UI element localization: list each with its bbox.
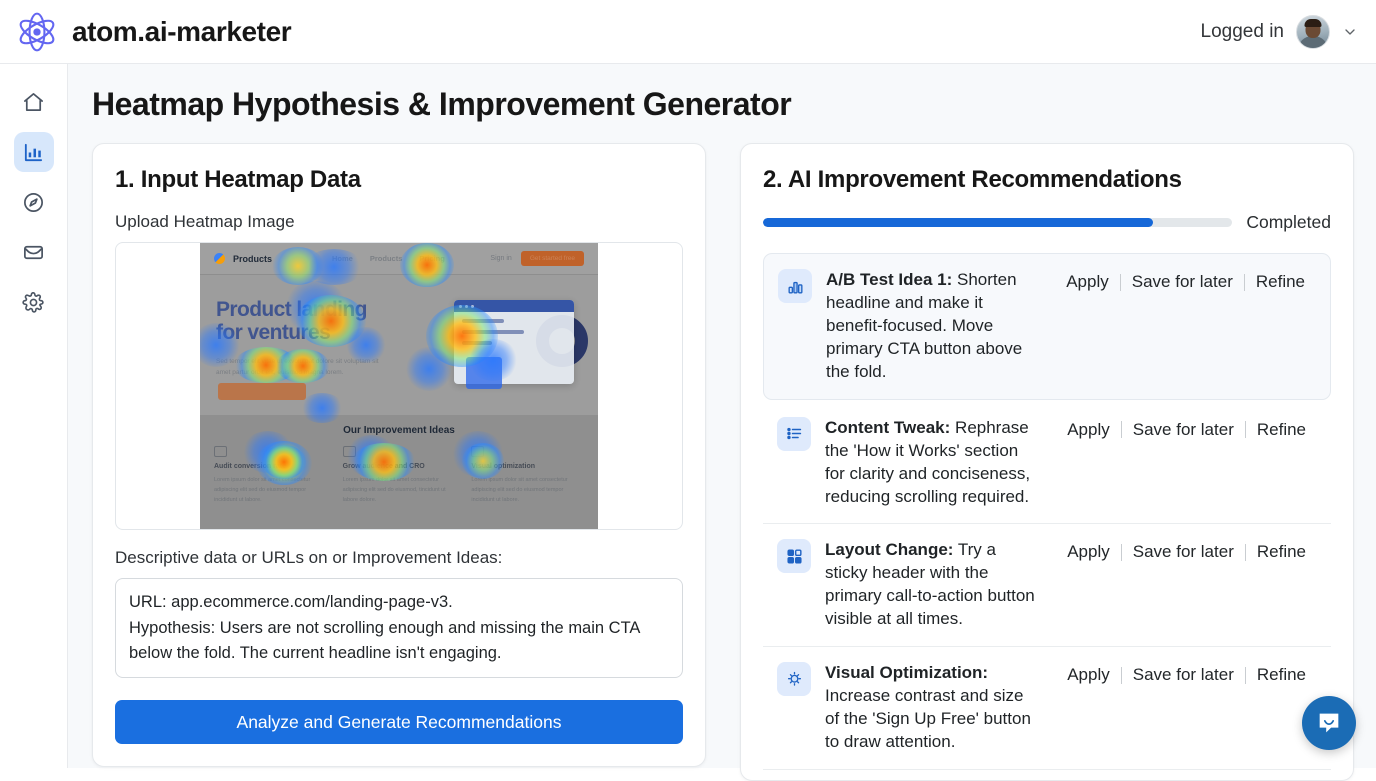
recommendation-title: Content Tweak: <box>825 418 950 437</box>
analyze-generate-button[interactable]: Analyze and Generate Recommendations <box>115 700 683 744</box>
heatmap-preview-image: Products Home Products Pricing Sign in G… <box>200 243 598 529</box>
apply-button[interactable]: Apply <box>1056 665 1121 685</box>
bar-chart-icon <box>22 141 45 164</box>
mock-card-body: Lorem ipsum dolor sit amet consectetur a… <box>343 475 456 506</box>
recommendation-actions: Apply Save for later Refine <box>1056 538 1317 562</box>
chat-widget-button[interactable] <box>1302 696 1356 750</box>
apply-button[interactable]: Apply <box>1056 420 1121 440</box>
compass-icon <box>22 191 45 214</box>
recommendation-row[interactable]: Layout Change: Try a sticky header with … <box>763 524 1331 647</box>
chevron-down-icon[interactable] <box>1342 24 1358 40</box>
input-card-heading: 1. Input Heatmap Data <box>115 166 683 194</box>
mock-card-title: Audit conversion rate <box>214 463 327 470</box>
atom-icon <box>16 11 58 53</box>
bar-chart-icon <box>778 269 812 303</box>
recommendation-text: Visual Optimization: Increase contrast a… <box>825 661 1042 754</box>
mock-card-title: Grow audience and CRO <box>343 463 456 470</box>
save-for-later-button[interactable]: Save for later <box>1122 542 1245 562</box>
mock-section-heading: Our Improvement Ideas <box>200 425 598 436</box>
refine-button[interactable]: Refine <box>1246 420 1317 440</box>
list-icon <box>777 417 811 451</box>
recommendations-heading: 2. AI Improvement Recommendations <box>763 166 1331 194</box>
recommendation-row[interactable]: A/B Test Idea 1: Shorten headline and ma… <box>763 253 1331 400</box>
home-icon <box>22 91 45 114</box>
top-bar: atom.ai-marketer Logged in <box>0 0 1376 64</box>
upload-label: Upload Heatmap Image <box>115 212 683 232</box>
mock-brand: Products <box>233 254 272 264</box>
recommendations-card: 2. AI Improvement Recommendations Comple… <box>740 143 1354 781</box>
recommendation-actions: Apply Save for later Refine <box>1056 416 1317 440</box>
mock-card-title: Visual optimization <box>471 463 584 470</box>
apply-button[interactable]: Apply <box>1055 272 1120 292</box>
avatar[interactable] <box>1296 15 1330 49</box>
save-for-later-button[interactable]: Save for later <box>1121 272 1244 292</box>
mock-headline: Product landingfor ventures <box>216 299 367 344</box>
brand[interactable]: atom.ai-marketer <box>0 11 291 53</box>
recommendation-title: A/B Test Idea 1: <box>826 270 952 289</box>
progress-bar <box>763 218 1232 227</box>
logged-in-label: Logged in <box>1201 21 1284 43</box>
brand-title: atom.ai-marketer <box>72 16 291 48</box>
columns: 1. Input Heatmap Data Upload Heatmap Ima… <box>92 143 1340 781</box>
sidebar-item-analytics[interactable] <box>14 132 54 172</box>
descriptive-data-textarea[interactable]: URL: app.ecommerce.com/landing-page-v3. … <box>115 578 683 678</box>
main-content: Heatmap Hypothesis & Improvement Generat… <box>68 64 1376 768</box>
recommendation-text: Content Tweak: Rephrase the 'How it Work… <box>825 416 1042 509</box>
mock-nav-link: Products <box>370 254 403 263</box>
recommendation-row[interactable]: Visual Optimization: Increase contrast a… <box>763 647 1331 770</box>
refine-button[interactable]: Refine <box>1245 272 1316 292</box>
recommendation-title: Layout Change: <box>825 540 953 559</box>
sidebar-item-inbox[interactable] <box>14 232 54 272</box>
refine-button[interactable]: Refine <box>1246 665 1317 685</box>
recommendation-text: Layout Change: Try a sticky header with … <box>825 538 1042 631</box>
recommendation-actions: Apply Save for later Refine <box>1056 661 1317 685</box>
gear-icon <box>22 291 45 314</box>
mail-icon <box>22 241 45 264</box>
mock-logo-icon <box>214 253 225 264</box>
lightbulb-icon <box>777 662 811 696</box>
mock-card-body: Lorem ipsum dolor sit amet consectetur a… <box>471 475 584 506</box>
mock-hero-button <box>218 383 306 400</box>
refine-button[interactable]: Refine <box>1246 542 1317 562</box>
save-for-later-button[interactable]: Save for later <box>1122 665 1245 685</box>
save-for-later-button[interactable]: Save for later <box>1122 420 1245 440</box>
sidebar-item-explore[interactable] <box>14 182 54 222</box>
page-title: Heatmap Hypothesis & Improvement Generat… <box>92 86 1340 123</box>
apply-button[interactable]: Apply <box>1056 542 1121 562</box>
recommendation-actions: Apply Save for later Refine <box>1055 268 1316 292</box>
recommendation-title: Visual Optimization: <box>825 663 988 682</box>
heatmap-upload-dropzone[interactable]: Products Home Products Pricing Sign in G… <box>115 242 683 530</box>
recommendation-text: A/B Test Idea 1: Shorten headline and ma… <box>826 268 1041 384</box>
mock-nav-link: Pricing <box>419 254 444 263</box>
sidebar-item-settings[interactable] <box>14 282 54 322</box>
mock-cta: Get started free <box>521 251 584 266</box>
sidebar-item-home[interactable] <box>14 82 54 122</box>
recommendation-body: Increase contrast and size of the 'Sign … <box>825 686 1031 751</box>
progress-status: Completed <box>1246 212 1331 233</box>
recommendation-row[interactable]: Content Tweak: Rephrase the 'How it Work… <box>763 402 1331 525</box>
input-heatmap-card: 1. Input Heatmap Data Upload Heatmap Ima… <box>92 143 706 767</box>
mock-card-body: Lorem ipsum dolor sit amet consectetur a… <box>214 475 327 506</box>
mock-signin: Sign in <box>490 255 511 262</box>
chat-bubble-icon <box>1315 709 1343 737</box>
grid-icon <box>777 539 811 573</box>
mock-paragraph: Sed tempor elit vitae ut exvolutpat dolo… <box>216 356 386 378</box>
progress-fill <box>763 218 1153 227</box>
textarea-label: Descriptive data or URLs on or Improveme… <box>115 548 683 568</box>
sidebar <box>0 64 68 768</box>
account-area[interactable]: Logged in <box>1201 15 1376 49</box>
mock-nav-link: Home <box>332 254 353 263</box>
progress-row: Completed <box>763 212 1331 233</box>
